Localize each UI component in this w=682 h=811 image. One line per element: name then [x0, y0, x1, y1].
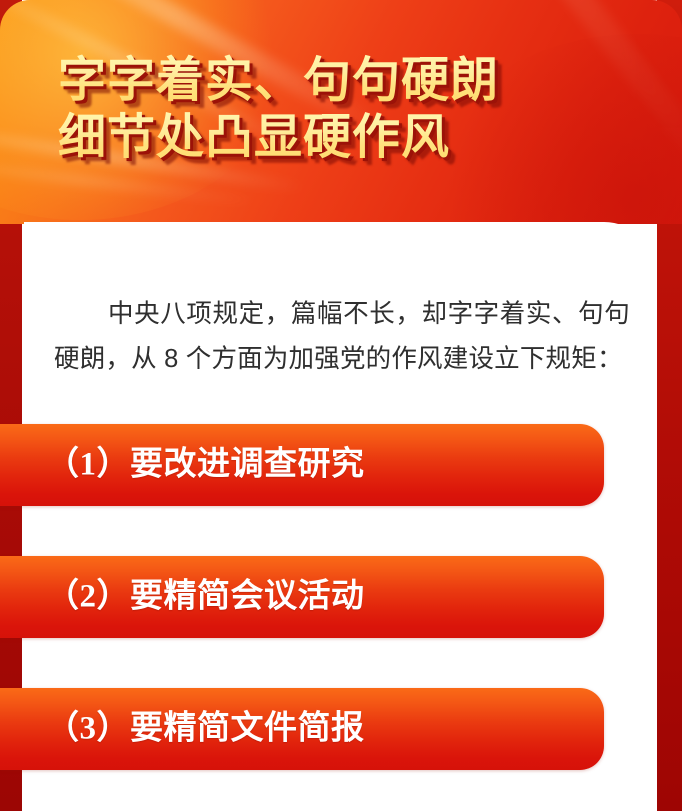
page-title-line-1: 字字着实、句句硬朗	[58, 52, 499, 109]
poster-root: 字字着实、句句硬朗 细节处凸显硬作风 中央八项规定，篇幅不长，却字字着实、句句硬…	[0, 0, 682, 811]
list-item[interactable]: （3）要精简文件简报	[0, 688, 604, 770]
page-title-line-2: 细节处凸显硬作风	[58, 109, 499, 166]
list-item-label: （2）要精简会议活动	[46, 581, 365, 614]
list-item-label: （1）要改进调查研究	[46, 449, 365, 482]
page-title: 字字着实、句句硬朗 细节处凸显硬作风	[58, 52, 499, 166]
intro-paragraph: 中央八项规定，篇幅不长，却字字着实、句句硬朗，从 8 个方面为加强党的作风建设立…	[54, 292, 630, 382]
list-item-label: （3）要精简文件简报	[46, 713, 365, 746]
header-banner: 字字着实、句句硬朗 细节处凸显硬作风	[0, 0, 682, 224]
list-item[interactable]: （1）要改进调查研究	[0, 424, 604, 506]
list-item[interactable]: （2）要精简会议活动	[0, 556, 604, 638]
